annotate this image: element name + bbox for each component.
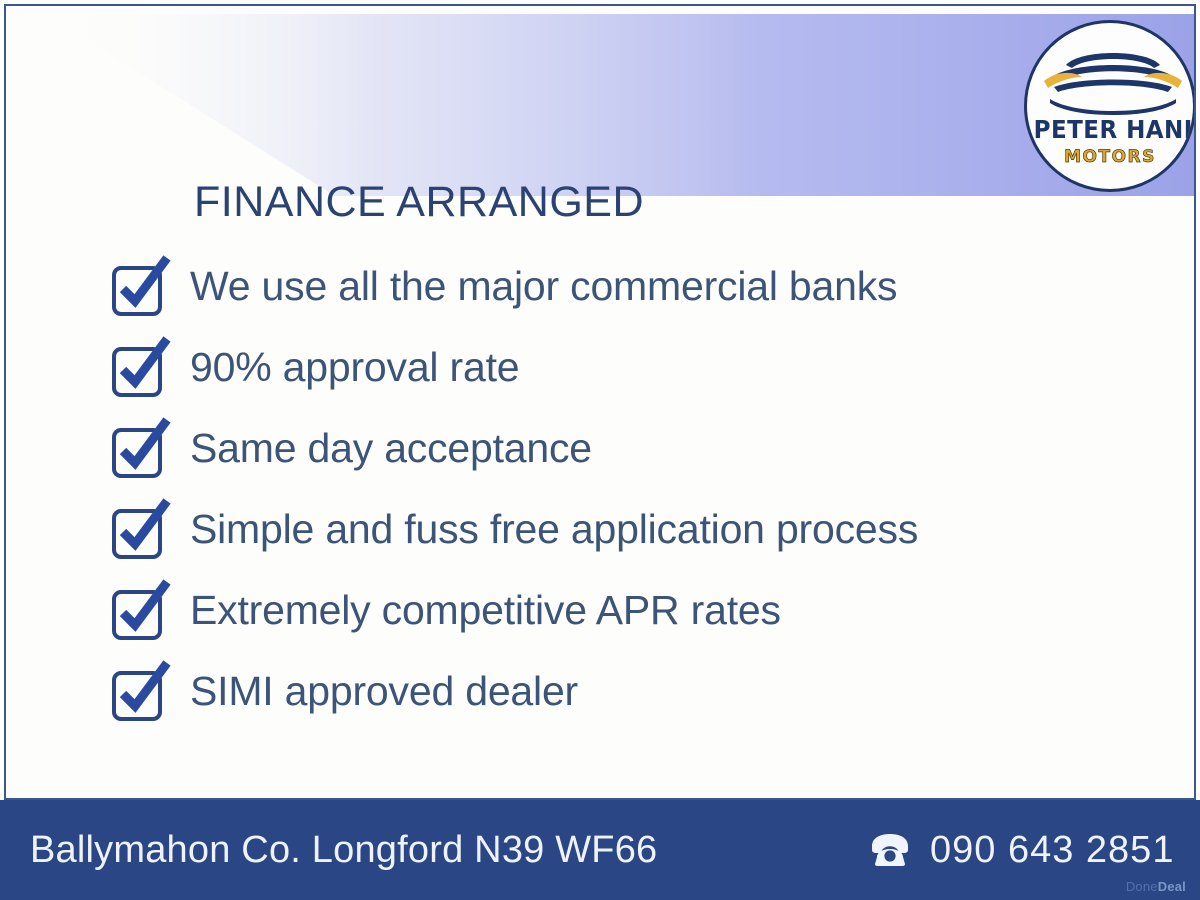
list-item: Same day acceptance [110,408,1110,489]
watermark-suffix: Deal [1158,879,1186,894]
telephone-icon [868,833,912,867]
contact-footer-bar: Ballymahon Co. Longford N39 WF66 090 643… [0,800,1200,900]
list-item-label: Same day acceptance [190,428,592,469]
checkbox-checked-icon [110,337,172,399]
car-silhouette-icon [1036,39,1190,117]
list-item: 90% approval rate [110,327,1110,408]
watermark-prefix: Done [1126,879,1158,894]
list-item: SIMI approved dealer [110,651,1110,732]
poster-card: PETER HANLEY MOTORS FINANCE ARRANGED We … [4,4,1196,800]
checkbox-checked-icon [110,661,172,723]
diagonal-gradient-band [6,6,1194,266]
list-item-label: Extremely competitive APR rates [190,590,781,631]
finance-arranged-poster: PETER HANLEY MOTORS FINANCE ARRANGED We … [0,0,1200,900]
donedeal-watermark: DoneDeal [1126,879,1186,894]
checkbox-checked-icon [110,256,172,318]
checkbox-checked-icon [110,499,172,561]
page-title: FINANCE ARRANGED [194,178,644,227]
company-logo: PETER HANLEY MOTORS [1024,20,1196,192]
list-item: We use all the major commercial banks [110,246,1110,327]
list-item-label: SIMI approved dealer [190,671,578,712]
checkbox-checked-icon [110,580,172,642]
list-item-label: Simple and fuss free application process [190,509,918,550]
list-item-label: 90% approval rate [190,347,519,388]
list-item-label: We use all the major commercial banks [190,266,897,307]
logo-company-name: PETER HANLEY [1034,115,1187,144]
address-text: Ballymahon Co. Longford N39 WF66 [30,829,657,872]
feature-list: We use all the major commercial banks 90… [110,246,1110,732]
list-item: Simple and fuss free application process [110,489,1110,570]
checkbox-checked-icon [110,418,172,480]
phone-number: 090 643 2851 [930,829,1174,872]
logo-ring: PETER HANLEY MOTORS [1024,20,1196,192]
list-item: Extremely competitive APR rates [110,570,1110,651]
logo-subtitle: MOTORS [1027,147,1193,167]
phone-contact[interactable]: 090 643 2851 [868,829,1174,872]
